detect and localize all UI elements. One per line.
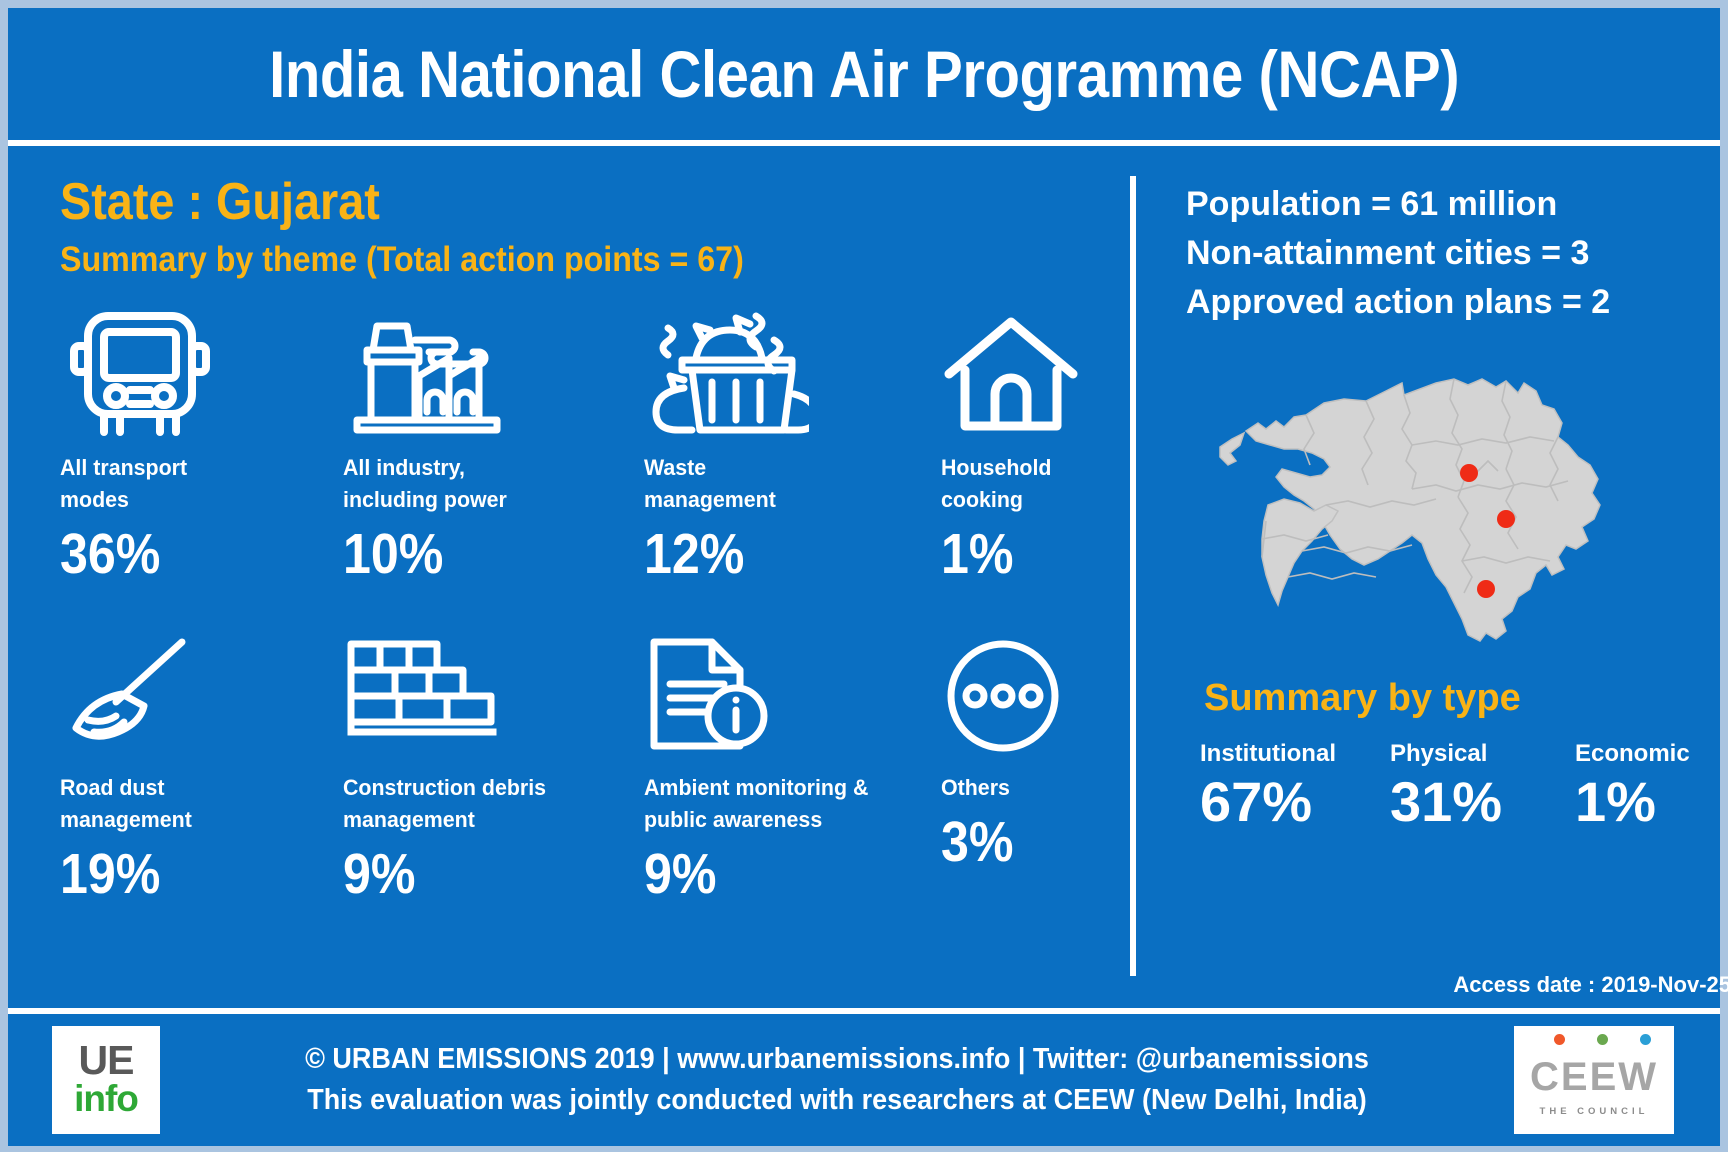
theme-percent: 3% [941, 814, 1152, 871]
ceew-logo: CEEW THE COUNCIL [1514, 1026, 1674, 1134]
footer-line-1: © URBAN EMISSIONS 2019 | www.urbanemissi… [207, 1039, 1466, 1080]
title-bar: India National Clean Air Programme (NCAP… [8, 8, 1720, 146]
theme-percent: 12% [644, 526, 905, 583]
theme-cell-monitoring: Ambient monitoring & public awareness 9% [644, 636, 941, 966]
theme-label: Ambient monitoring & public awareness [644, 772, 926, 836]
ceew-logo-dots [1514, 1034, 1674, 1045]
theme-percent: 9% [343, 846, 608, 903]
urban-emissions-logo: UE info [52, 1026, 160, 1134]
brick-wall-icon [343, 636, 644, 756]
ue-logo-top: UE [79, 1041, 134, 1080]
footer-credits: © URBAN EMISSIONS 2019 | www.urbanemissi… [207, 1039, 1466, 1121]
type-cell-economic: Economic 1% [1575, 740, 1728, 830]
theme-percent: 19% [60, 846, 309, 903]
state-heading: State : Gujarat [60, 172, 1023, 232]
access-date: Access date : 2019-Nov-25 [1453, 972, 1728, 998]
theme-label: All transport modes [60, 452, 329, 516]
theme-cell-transport: All transport modes 36% [60, 306, 343, 636]
ceew-dot-blue [1640, 1034, 1651, 1045]
trash-icon [644, 306, 941, 436]
type-label: Economic [1575, 740, 1728, 768]
theme-label: Construction debris management [343, 772, 629, 836]
broom-icon [60, 636, 343, 756]
theme-label: Road dust management [60, 772, 329, 836]
stat-nonattainment-cities: Non-attainment cities = 3 [1186, 229, 1728, 278]
ceew-tagline: THE COUNCIL [1540, 1106, 1649, 1117]
theme-percent: 1% [941, 526, 1152, 583]
theme-cell-waste: Waste management 12% [644, 306, 941, 636]
stat-population: Population = 61 million [1186, 180, 1728, 229]
summary-by-type-heading: Summary by type [1204, 677, 1728, 720]
main-body: State : Gujarat Summary by theme (Total … [8, 146, 1720, 1014]
ceew-dot-green [1597, 1034, 1608, 1045]
ceew-wordmark: CEEW [1530, 1055, 1658, 1100]
type-label: Institutional [1200, 740, 1390, 768]
type-cell-physical: Physical 31% [1390, 740, 1575, 830]
type-percent: 67% [1200, 774, 1390, 830]
theme-percent: 10% [343, 526, 608, 583]
theme-cell-road-dust: Road dust management 19% [60, 636, 343, 966]
type-percent: 31% [1390, 774, 1575, 830]
summary-by-type-grid: Institutional 67% Physical 31% Economic … [1200, 740, 1728, 830]
theme-label: Waste management [644, 452, 926, 516]
theme-cell-construction: Construction debris management 9% [343, 636, 644, 966]
footer-bar: UE info © URBAN EMISSIONS 2019 | www.urb… [8, 1014, 1720, 1146]
theme-grid: All transport modes 36% [60, 306, 1130, 966]
theme-label: All industry, including power [343, 452, 629, 516]
right-panel: Population = 61 million Non-attainment c… [1130, 146, 1728, 1008]
theme-percent: 9% [644, 846, 905, 903]
page-title: India National Clean Air Programme (NCAP… [269, 36, 1459, 112]
type-cell-institutional: Institutional 67% [1200, 740, 1390, 830]
infographic-page: India National Clean Air Programme (NCAP… [0, 0, 1728, 1152]
stat-approved-plans: Approved action plans = 2 [1186, 278, 1728, 327]
left-panel: State : Gujarat Summary by theme (Total … [8, 146, 1130, 1008]
type-label: Physical [1390, 740, 1575, 768]
bus-icon [60, 306, 343, 436]
gujarat-map [1206, 353, 1626, 653]
footer-line-2: This evaluation was jointly conducted wi… [207, 1080, 1466, 1121]
theme-percent: 36% [60, 526, 309, 583]
factory-icon [343, 306, 644, 436]
type-percent: 1% [1575, 774, 1728, 830]
theme-cell-industry: All industry, including power 10% [343, 306, 644, 636]
theme-heading: Summary by theme (Total action points = … [60, 240, 1044, 280]
ceew-dot-orange [1554, 1034, 1565, 1045]
document-info-icon [644, 636, 941, 756]
ue-logo-bottom: info [74, 1080, 138, 1119]
